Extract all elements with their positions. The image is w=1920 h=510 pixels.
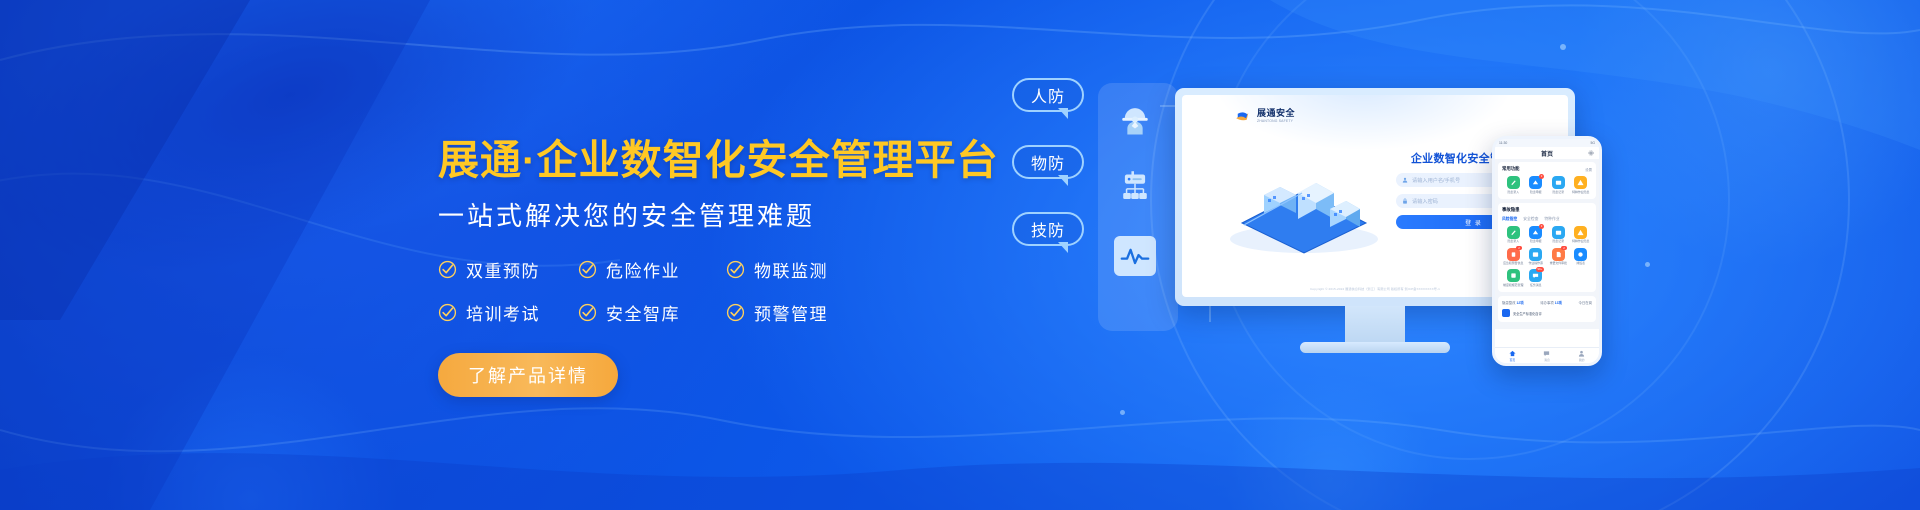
feature-item: 安全智库 xyxy=(578,300,726,325)
gear-icon[interactable] xyxy=(1588,150,1594,156)
bubble-label: 技防 xyxy=(1031,217,1065,241)
app-label: 重要文件审批 xyxy=(1550,262,1567,265)
schedule-icon xyxy=(1574,248,1587,261)
app-tile[interactable]: 2 重要文件审批 xyxy=(1547,248,1570,266)
app-label: 隐患记录 xyxy=(1552,240,1564,243)
phone-status-bar: 11:30 5G xyxy=(1495,139,1599,147)
badge-count: 3 xyxy=(1539,174,1545,179)
hazard-report-icon: 3 xyxy=(1529,176,1542,189)
card-header: 常用功能 设置 xyxy=(1502,166,1592,172)
app-label: 特种作业隐患 xyxy=(1572,240,1589,243)
feature-label: 双重预防 xyxy=(466,257,540,282)
app-tile[interactable]: 3 隐患申报 xyxy=(1525,226,1548,244)
check-circle-icon xyxy=(438,260,457,279)
user-icon xyxy=(1578,350,1585,357)
monitoring-wave-tile xyxy=(1114,236,1156,276)
app-logo: 展通安全 ZHANTONG SAFETY xyxy=(1234,107,1295,125)
mobile-phone-mockup: 11:30 5G 首页 常用功能 设置 xyxy=(1492,136,1602,366)
feature-item: 物联监测 xyxy=(726,257,876,282)
stat-label: 隐患整改 xyxy=(1502,301,1516,305)
app-tile[interactable]: 特种作业隐患 xyxy=(1570,176,1593,194)
hazard-record-icon xyxy=(1552,226,1565,239)
bubble-renfang: 人防 xyxy=(1012,78,1084,112)
network-device-tile xyxy=(1114,168,1156,208)
tab-home[interactable]: 首页 xyxy=(1509,350,1516,362)
lock-icon xyxy=(1402,198,1408,204)
document-approval-icon: 2 xyxy=(1552,248,1565,261)
protection-bubbles: 人防 物防 技防 xyxy=(1012,78,1084,246)
status-time: 11:30 xyxy=(1499,141,1507,145)
monitoring-wave-icon xyxy=(1120,243,1150,269)
network-device-icon xyxy=(1118,172,1152,204)
phone-body: 常用功能 设置 隐患录入 3 xyxy=(1495,159,1599,329)
stat-label: 今日在岗 xyxy=(1578,301,1592,305)
feature-list: 双重预防 危险作业 物联监测 xyxy=(438,257,998,325)
bubble-wufang: 物防 xyxy=(1012,145,1084,179)
username-placeholder: 请输入用户名/手机号 xyxy=(1412,177,1460,184)
stat-label: 待办事项 xyxy=(1540,301,1554,305)
feature-label: 危险作业 xyxy=(606,257,680,282)
accident-hazard-card: 事故隐患 风险管控 安全检查 特种作业 隐患录入 xyxy=(1498,203,1596,292)
tab-profile[interactable]: 我的 xyxy=(1578,350,1585,362)
tab-label: 消息 xyxy=(1544,358,1550,362)
app-label: 隐患记录 xyxy=(1552,191,1564,194)
stat-value: 12项 xyxy=(1517,301,1524,305)
feature-item: 培训考试 xyxy=(438,300,578,325)
app-tile[interactable]: 隐患录入 xyxy=(1502,176,1525,194)
list-item-icon xyxy=(1502,309,1510,317)
bubble-jifang: 技防 xyxy=(1012,212,1084,246)
card-settings-link[interactable]: 设置 xyxy=(1585,167,1592,172)
feature-label: 安全智库 xyxy=(606,300,680,325)
app-tile[interactable]: 3 隐患申报 xyxy=(1525,176,1548,194)
feature-item: 双重预防 xyxy=(438,257,578,282)
app-label: 应急和预警信息 xyxy=(1503,262,1523,265)
app-tile[interactable]: 特种作业隐患 xyxy=(1570,226,1593,244)
bubble-label: 人防 xyxy=(1031,83,1065,107)
app-label: 排班表 xyxy=(1576,262,1585,265)
nav-title: 首页 xyxy=(1541,149,1553,158)
brand-name-cn: 展通安全 xyxy=(1257,109,1295,118)
badge-count: 2 xyxy=(1561,246,1567,251)
tab-message[interactable]: 消息 xyxy=(1543,350,1550,362)
app-label: 隐患申报 xyxy=(1530,240,1542,243)
stat-todo: 待办事项 13项 xyxy=(1540,300,1562,305)
app-label: 隐患录入 xyxy=(1507,191,1519,194)
badge-count: 3 xyxy=(1539,224,1545,229)
check-circle-icon xyxy=(578,303,597,322)
tab-label: 我的 xyxy=(1579,358,1585,362)
list-item-label: 安全生产标准化自评 xyxy=(1513,311,1542,316)
user-icon xyxy=(1402,177,1408,183)
card-title: 事故隐患 xyxy=(1502,207,1520,213)
work-ticket-icon xyxy=(1529,248,1542,261)
app-grid: 隐患录入 3 隐患申报 xyxy=(1502,176,1592,194)
brand-text: 展通安全 ZHANTONG SAFETY xyxy=(1257,109,1295,123)
hero-banner: 展通·企业数智化安全管理平台 一站式解决您的安全管理难题 双重预防 危险作业 xyxy=(0,0,1920,510)
page-title: 展通·企业数智化安全管理平台 xyxy=(438,138,998,183)
special-hazard-icon xyxy=(1574,176,1587,189)
hazard-report-icon: 3 xyxy=(1529,226,1542,239)
app-tile[interactable]: 2 应急和预警信息 xyxy=(1502,248,1525,266)
task-message-icon: 99+ xyxy=(1529,269,1542,282)
app-label: 作业操作票 xyxy=(1529,262,1543,265)
card-tabs: 风险管控 安全检查 特种作业 xyxy=(1502,217,1592,222)
hazard-entry-icon xyxy=(1507,176,1520,189)
phone-nav-bar: 首页 xyxy=(1495,147,1599,159)
common-functions-card: 常用功能 设置 隐患录入 3 xyxy=(1498,162,1596,199)
hero-copy: 展通·企业数智化安全管理平台 一站式解决您的安全管理难题 双重预防 危险作业 xyxy=(438,138,998,397)
stats-row: 隐患整改 12项 待办事项 13项 今日在岗 xyxy=(1502,300,1592,305)
stats-card: 隐患整改 12项 待办事项 13项 今日在岗 安全生产标准化自评 xyxy=(1498,296,1596,322)
app-tile[interactable]: 排班表 xyxy=(1570,248,1593,266)
learn-more-button[interactable]: 了解产品详情 xyxy=(438,353,618,397)
status-signal: 5G xyxy=(1590,141,1595,145)
feature-item: 危险作业 xyxy=(578,257,726,282)
feature-item: 预警管理 xyxy=(726,300,876,325)
app-label: 隐患申报 xyxy=(1530,191,1542,194)
badge-count: 99+ xyxy=(1536,267,1545,272)
bg-blob-bottom-left xyxy=(40,290,460,510)
hazard-entry-icon xyxy=(1507,226,1520,239)
isometric-city-illustration xyxy=(1218,147,1390,257)
app-label: 制度和规范管理 xyxy=(1503,284,1523,287)
check-circle-icon xyxy=(578,260,597,279)
home-icon xyxy=(1509,350,1516,357)
monitor-neck xyxy=(1345,306,1405,342)
app-tile[interactable]: 作业操作票 xyxy=(1525,248,1548,266)
tab-special-work[interactable]: 特种作业 xyxy=(1544,217,1559,222)
monitor-base xyxy=(1300,342,1450,353)
page-subtitle: 一站式解决您的安全管理难题 xyxy=(438,201,998,232)
check-circle-icon xyxy=(726,303,745,322)
app-label: 特种作业隐患 xyxy=(1572,191,1589,194)
check-circle-icon xyxy=(726,260,745,279)
stat-on-duty: 今日在岗 xyxy=(1578,300,1592,305)
worker-helmet-icon xyxy=(1118,103,1152,137)
app-tile[interactable]: 99+ 任务消息 xyxy=(1525,269,1548,287)
bubble-label: 物防 xyxy=(1031,150,1065,174)
list-item[interactable]: 安全生产标准化自评 xyxy=(1502,309,1592,317)
message-icon xyxy=(1543,350,1550,357)
app-tile[interactable]: 隐患录入 xyxy=(1502,226,1525,244)
tab-label: 首页 xyxy=(1510,358,1516,362)
app-tile[interactable]: 制度和规范管理 xyxy=(1502,269,1525,287)
card-header: 事故隐患 xyxy=(1502,207,1592,213)
password-placeholder: 请输入密码 xyxy=(1412,198,1438,205)
stat-value: 13项 xyxy=(1555,301,1562,305)
app-tile[interactable]: 隐患记录 xyxy=(1547,176,1570,194)
app-grid: 隐患录入 3 隐患申报 xyxy=(1502,226,1592,287)
phone-tab-bar: 首页 消息 我的 xyxy=(1495,347,1599,363)
check-circle-icon xyxy=(438,303,457,322)
hazard-record-icon xyxy=(1552,176,1565,189)
badge-count: 2 xyxy=(1516,246,1522,251)
app-tile[interactable]: 隐患记录 xyxy=(1547,226,1570,244)
worker-helmet-tile xyxy=(1114,100,1156,140)
card-title: 常用功能 xyxy=(1502,166,1520,172)
app-label: 隐患录入 xyxy=(1507,240,1519,243)
brand-name-en: ZHANTONG SAFETY xyxy=(1257,120,1295,123)
brand-mark-icon xyxy=(1234,107,1252,125)
feature-label: 物联监测 xyxy=(754,257,828,282)
special-hazard-icon xyxy=(1574,226,1587,239)
feature-label: 培训考试 xyxy=(466,300,540,325)
device-showcase: 人防 物防 技防 + + xyxy=(1020,48,1900,468)
tab-safety-check[interactable]: 安全检查 xyxy=(1523,217,1538,222)
tab-risk-control[interactable]: 风险管控 xyxy=(1502,217,1517,222)
emergency-alert-icon: 2 xyxy=(1507,248,1520,261)
feature-label: 预警管理 xyxy=(754,300,828,325)
app-label: 任务消息 xyxy=(1530,284,1542,287)
regulation-management-icon xyxy=(1507,269,1520,282)
stat-hazard-rectify: 隐患整改 12项 xyxy=(1502,300,1524,305)
